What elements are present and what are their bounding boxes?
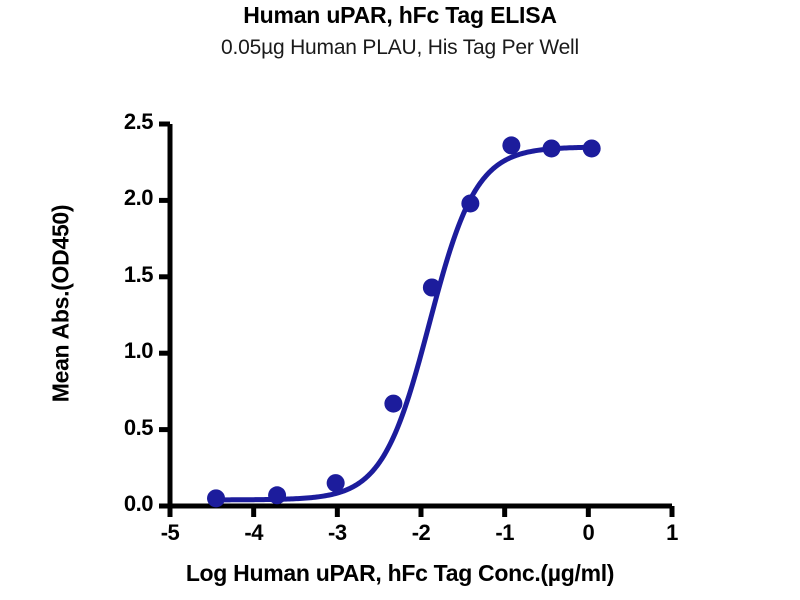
data-point bbox=[461, 194, 479, 212]
y-tick-label: 0.5 bbox=[83, 415, 153, 441]
x-tick-label: -5 bbox=[150, 520, 190, 546]
y-tick-label: 2.0 bbox=[83, 185, 153, 211]
data-point bbox=[268, 486, 286, 504]
data-point bbox=[207, 489, 225, 507]
x-tick-label: -2 bbox=[401, 520, 441, 546]
x-tick-label: -3 bbox=[317, 520, 357, 546]
y-tick-label: 0.0 bbox=[83, 491, 153, 517]
y-tick-label: 1.0 bbox=[83, 338, 153, 364]
data-point bbox=[423, 279, 441, 297]
x-tick-label: 0 bbox=[568, 520, 608, 546]
axis-lines bbox=[170, 124, 672, 506]
x-tick-label: 1 bbox=[652, 520, 692, 546]
chart-page: Human uPAR, hFc Tag ELISA 0.05µg Human P… bbox=[0, 0, 800, 600]
data-point bbox=[583, 139, 601, 157]
data-point bbox=[384, 395, 402, 413]
y-tick-label: 1.5 bbox=[83, 262, 153, 288]
fit-curve bbox=[216, 147, 592, 500]
x-tick-label: -4 bbox=[234, 520, 274, 546]
axis-ticks bbox=[159, 124, 672, 517]
x-tick-label: -1 bbox=[485, 520, 525, 546]
y-tick-label: 2.5 bbox=[83, 109, 153, 135]
data-point bbox=[327, 474, 345, 492]
data-point bbox=[502, 136, 520, 154]
data-points bbox=[207, 136, 601, 507]
data-point bbox=[543, 139, 561, 157]
